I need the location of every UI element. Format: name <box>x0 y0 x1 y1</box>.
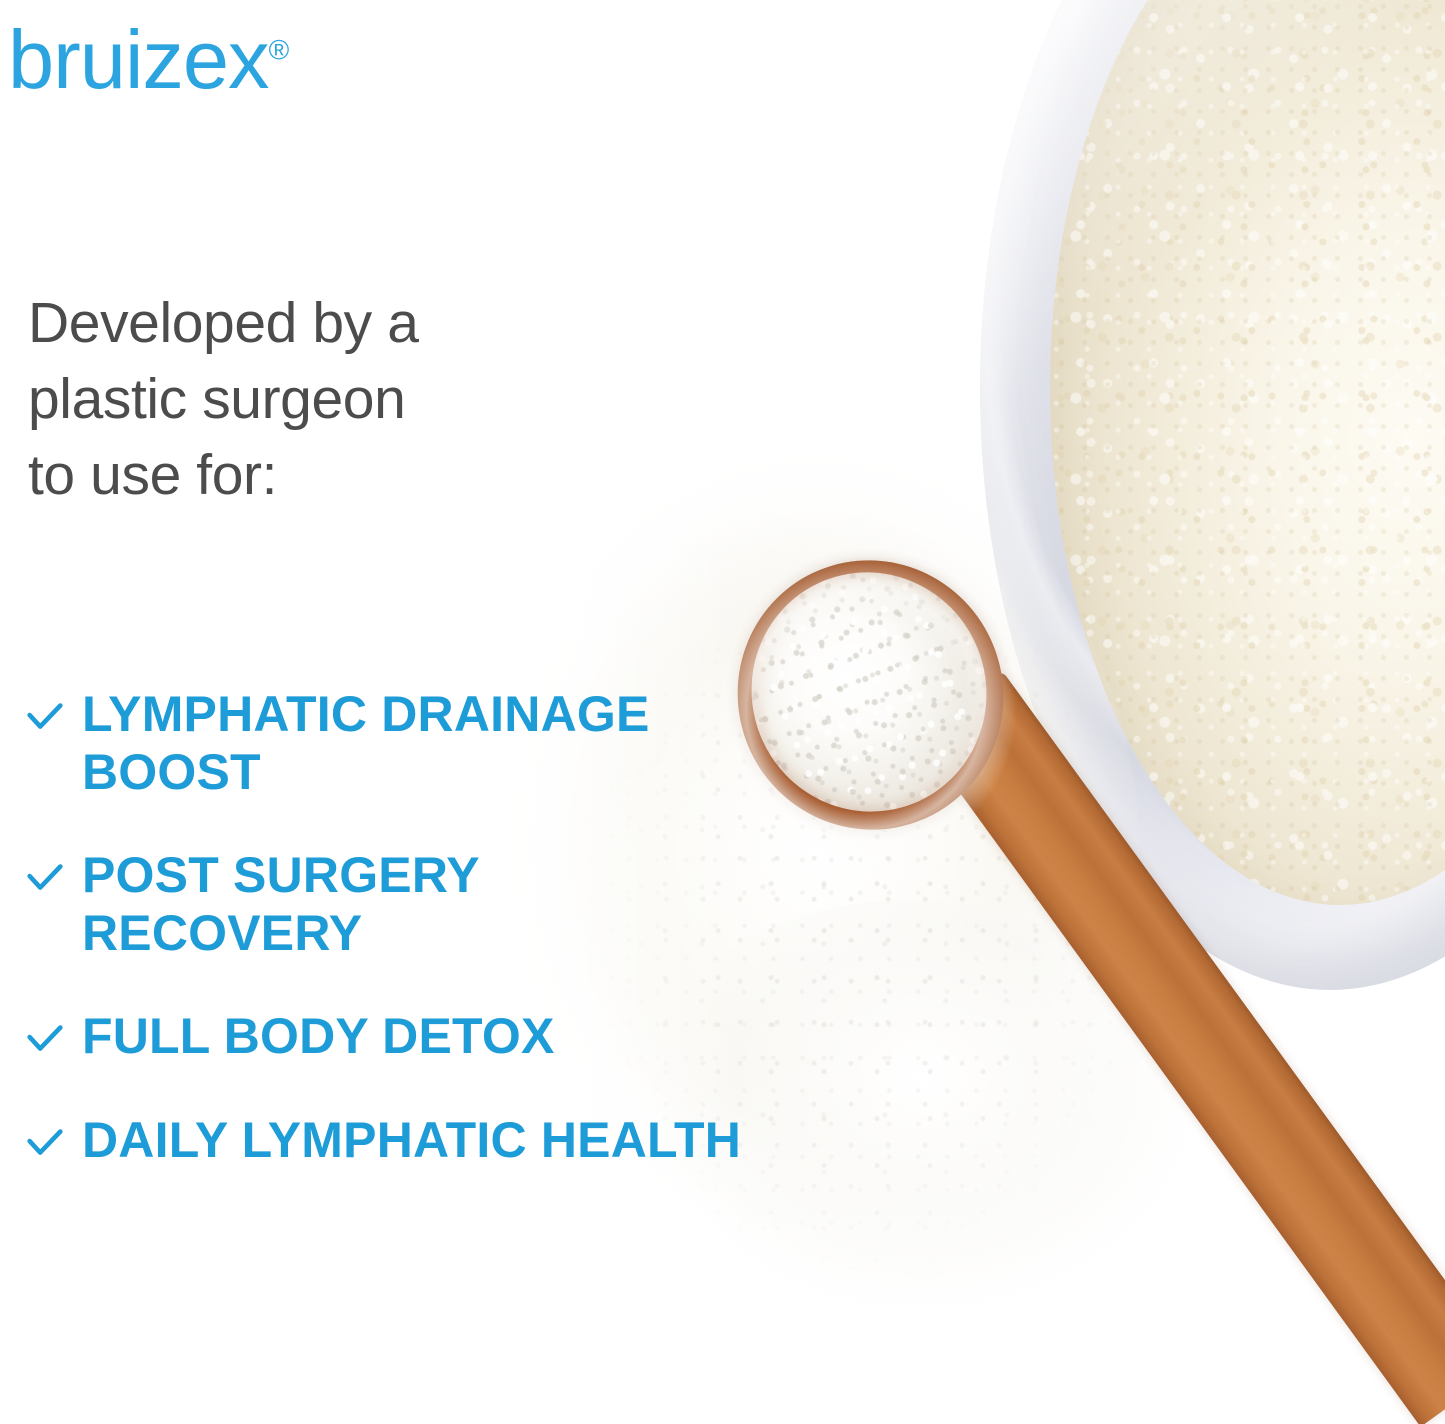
headline-line-3: to use for: <box>28 438 588 514</box>
list-item: DAILY LYMPHATIC HEALTH <box>22 1112 742 1170</box>
list-item: LYMPHATIC DRAINAGE BOOST <box>22 686 742 801</box>
benefit-label: LYMPHATIC DRAINAGE BOOST <box>68 686 742 801</box>
list-item: FULL BODY DETOX <box>22 1008 742 1066</box>
headline-line-1: Developed by a <box>28 286 588 362</box>
check-icon <box>22 1016 68 1062</box>
product-infographic: bruizex® Developed by a plastic surgeon … <box>0 0 1445 1424</box>
benefit-label: POST SURGERY RECOVERY <box>68 847 742 962</box>
benefits-list: LYMPHATIC DRAINAGE BOOST POST SURGERY RE… <box>22 686 742 1169</box>
benefit-label: DAILY LYMPHATIC HEALTH <box>68 1112 742 1170</box>
page-title: Developed by a plastic surgeon to use fo… <box>28 286 588 513</box>
check-icon <box>22 1120 68 1166</box>
headline-line-2: plastic surgeon <box>28 362 588 438</box>
check-icon <box>22 694 68 740</box>
brand-logo: bruizex® <box>8 18 289 101</box>
brand-logo-text: bruizex <box>8 13 269 106</box>
check-icon <box>22 855 68 901</box>
benefit-label: FULL BODY DETOX <box>68 1008 742 1066</box>
registered-trademark-icon: ® <box>269 34 290 65</box>
list-item: POST SURGERY RECOVERY <box>22 847 742 962</box>
